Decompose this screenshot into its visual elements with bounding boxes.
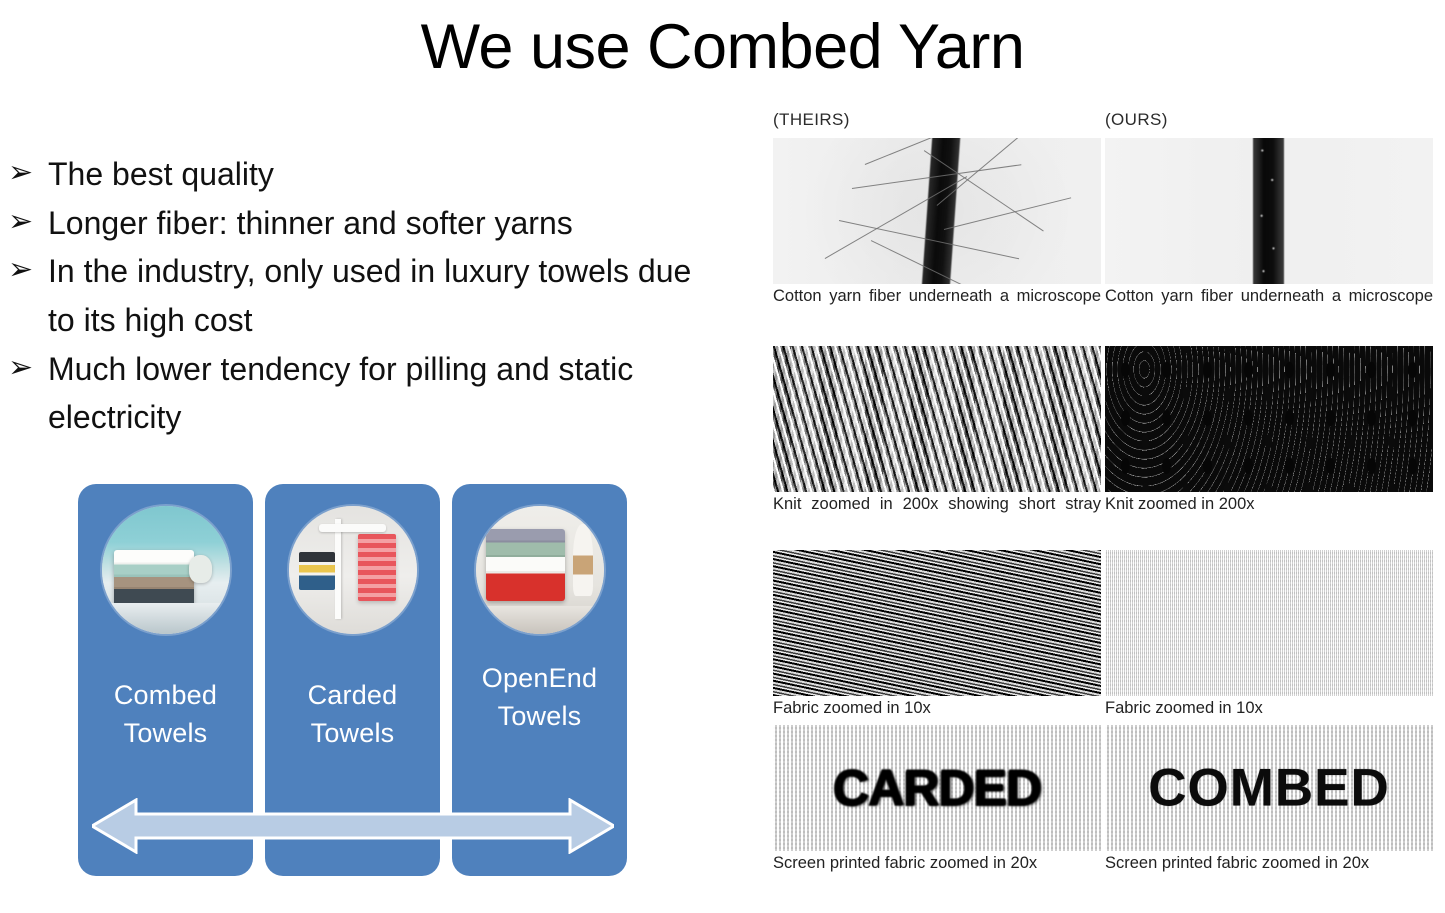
list-item: ➢ The best quality [8, 150, 738, 199]
arrow-bullet-icon: ➢ [8, 150, 48, 196]
combed-yarn-micrograph-image [1105, 138, 1433, 284]
carded-yarn-micrograph-image [773, 138, 1101, 284]
cmp-cell-yarn-ours: Cotton yarn fiber underneath a microscop… [1105, 138, 1433, 330]
bullet-text: Much lower tendency for pilling and stat… [48, 345, 738, 442]
towel-card-label-line2: Towels [78, 714, 253, 752]
printed-word-carded: CARDED [773, 759, 1101, 817]
column-header-ours: (OURS) [1105, 110, 1168, 130]
towel-card-label-line1: Combed [78, 676, 253, 714]
list-item: ➢ In the industry, only used in luxury t… [8, 247, 738, 344]
caption-yarn-theirs: Cotton yarn fiber underneath a microscop… [773, 284, 1101, 330]
bullet-text: The best quality [48, 150, 738, 199]
list-item: ➢ Longer fiber: thinner and softer yarns [8, 199, 738, 248]
list-item: ➢ Much lower tendency for pilling and st… [8, 345, 738, 442]
towel-card-openend[interactable]: OpenEnd Towels [452, 484, 627, 876]
towel-card-label-line1: Carded [265, 676, 440, 714]
bullet-text: Longer fiber: thinner and softer yarns [48, 199, 738, 248]
arrow-bullet-icon: ➢ [8, 247, 48, 293]
arrow-bullet-icon: ➢ [8, 199, 48, 245]
combed-screen-print-20x-image: COMBED [1105, 725, 1433, 851]
cmp-cell-fabric-ours: Fabric zoomed in 10x [1105, 550, 1433, 720]
bullet-list: ➢ The best quality ➢ Longer fiber: thinn… [8, 150, 738, 442]
caption-print-theirs: Screen printed fabric zoomed in 20x [773, 851, 1101, 875]
caption-fabric-theirs: Fabric zoomed in 10x [773, 696, 1101, 720]
towel-card-carded[interactable]: Carded Towels [265, 484, 440, 876]
towel-card-label: OpenEnd Towels [452, 659, 627, 736]
towel-card-label-line1: OpenEnd [452, 659, 627, 697]
smooth-fabric-10x-image [1105, 550, 1433, 696]
caption-knit-ours: Knit zoomed in 200x [1105, 492, 1433, 516]
caption-knit-theirs: Knit zoomed in 200x showing short stray [773, 492, 1101, 538]
caption-print-ours: Screen printed fabric zoomed in 20x [1105, 851, 1433, 875]
bullet-text: In the industry, only used in luxury tow… [48, 247, 738, 344]
page-title: We use Combed Yarn [0, 14, 1445, 80]
cmp-cell-fabric-theirs: Fabric zoomed in 10x [773, 550, 1101, 720]
combed-towels-photo [102, 506, 230, 634]
column-header-theirs: (THEIRS) [773, 110, 850, 130]
comparison-grid: (THEIRS) (OURS) Cotton yarn fiber undern… [765, 110, 1437, 905]
arrow-bullet-icon: ➢ [8, 345, 48, 391]
cmp-cell-knit-theirs: Knit zoomed in 200x showing short stray [773, 346, 1101, 538]
caption-yarn-ours: Cotton yarn fiber underneath a microscop… [1105, 284, 1433, 330]
clean-knit-200x-image [1105, 346, 1433, 492]
carded-screen-print-20x-image: CARDED [773, 725, 1101, 851]
towel-card-label: Carded Towels [265, 676, 440, 753]
towel-card-label-line2: Towels [265, 714, 440, 752]
cmp-cell-knit-ours: Knit zoomed in 200x [1105, 346, 1433, 516]
cmp-cell-print-ours: COMBED Screen printed fabric zoomed in 2… [1105, 725, 1433, 875]
printed-word-combed: COMBED [1105, 758, 1433, 819]
cmp-cell-print-theirs: CARDED Screen printed fabric zoomed in 2… [773, 725, 1101, 875]
left-content-pane: ➢ The best quality ➢ Longer fiber: thinn… [0, 150, 745, 913]
towel-card-label-line2: Towels [452, 697, 627, 735]
carded-towels-photo [289, 506, 417, 634]
rough-fabric-10x-image [773, 550, 1101, 696]
towel-type-card-group: Combed Towels Carded Towels OpenEnd Towe… [78, 484, 627, 876]
towel-card-combed[interactable]: Combed Towels [78, 484, 253, 876]
fuzzy-knit-200x-image [773, 346, 1101, 492]
cmp-cell-yarn-theirs: Cotton yarn fiber underneath a microscop… [773, 138, 1101, 330]
openend-towels-photo [476, 506, 604, 634]
caption-fabric-ours: Fabric zoomed in 10x [1105, 696, 1433, 720]
towel-card-label: Combed Towels [78, 676, 253, 753]
